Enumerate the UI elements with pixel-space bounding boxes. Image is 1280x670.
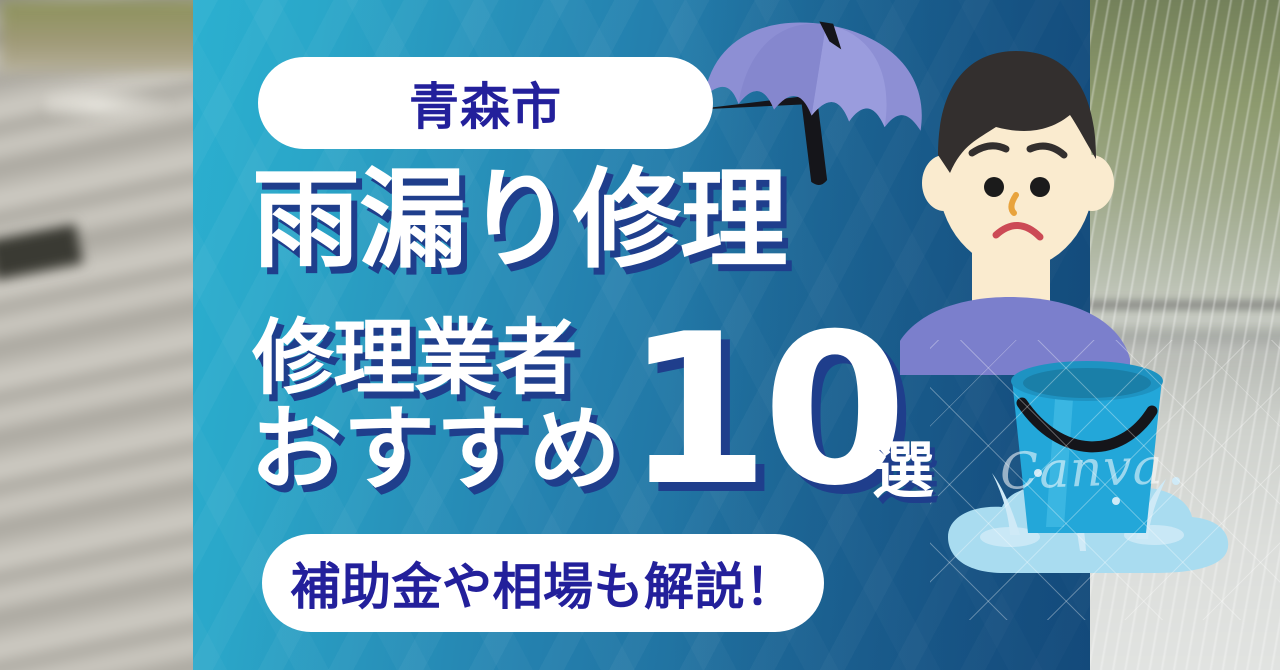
water-drop-b (1172, 477, 1180, 485)
region-badge: 青森市 (258, 57, 713, 149)
bucket-rim-inner (1023, 368, 1151, 398)
headline-sub-line-1: 修理業者 (252, 318, 577, 400)
headline-sub-line-2: おすすめ (250, 404, 622, 496)
region-badge-label: 青森市 (409, 67, 562, 139)
count-unit: 選 (872, 440, 934, 502)
man-eye-left (984, 177, 1004, 197)
leaking-bucket-illustration (940, 355, 1240, 580)
roof-photo-grass-band (0, 0, 210, 72)
footer-badge-label: 補助金や相場も解説！ (291, 547, 796, 619)
headline-main: 雨漏り修理 (252, 167, 787, 275)
water-drop-c (1112, 497, 1120, 505)
banner-canvas: Canva 青森市 雨漏り修理 修理業者 おすすめ 10 選 補助金や相場も解説… (0, 0, 1280, 670)
roof-tiles-photo (0, 0, 210, 670)
footer-badge: 補助金や相場も解説！ (262, 534, 824, 632)
roof-photo-moss (46, 88, 176, 122)
bucket-body (1012, 379, 1162, 533)
count-number: 10 (625, 315, 900, 508)
man-eye-right (1030, 177, 1050, 197)
worried-man-illustration (900, 35, 1130, 375)
water-drop-a (1034, 469, 1042, 477)
